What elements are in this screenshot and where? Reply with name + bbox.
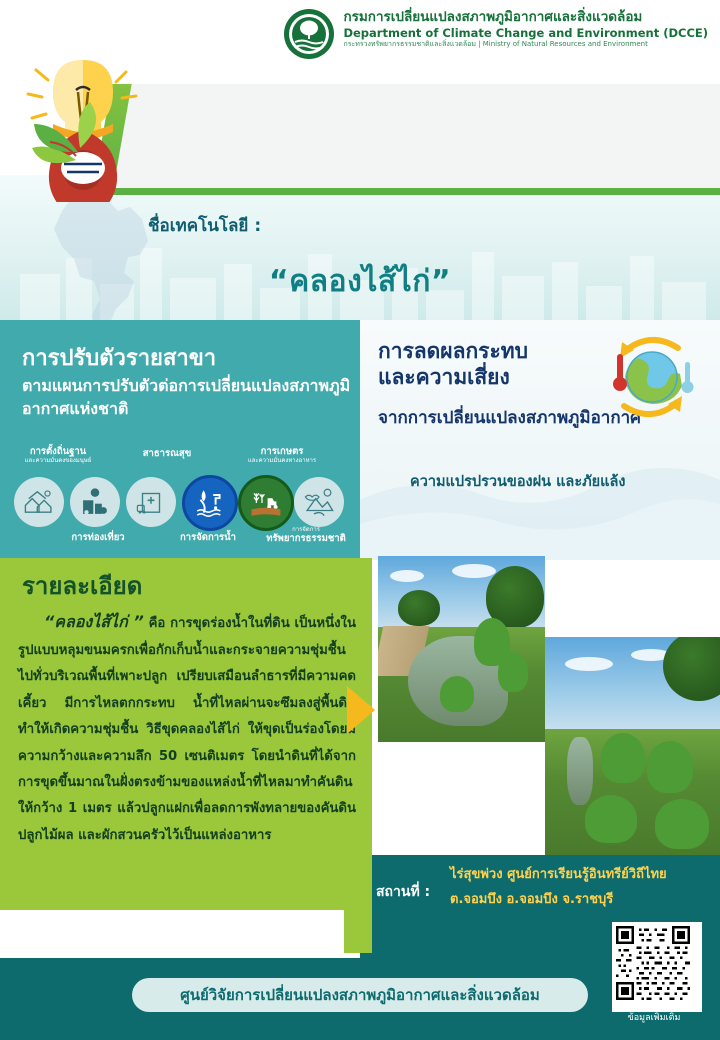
org-ministry: กระทรวงทรัพยากรธรรมชาติและสิ่งแวดล้อม | … [343, 40, 708, 49]
lightbulb-leaf-map-pin-icon [18, 52, 148, 202]
water-management-tap-icon [194, 487, 226, 519]
adaptation-panel-subheading: ตามแผนการปรับตัวต่อการเปลี่ยนแปลงสภาพภูม… [22, 374, 352, 420]
org-name-th: กรมการเปลี่ยนแปลงสภาพภูมิอากาศและสิ่งแวด… [343, 10, 708, 26]
sector-icon-natural-resources[interactable] [294, 477, 344, 527]
wave-decoration [360, 440, 720, 560]
triangle-right-arrow-icon [347, 686, 375, 734]
location-line1: ไร่สุขพ่วง ศูนย์การเรียนรู้อินทรีย์วิถีไ… [450, 863, 710, 888]
sector-label-water: การจัดการน้ำ [158, 533, 258, 543]
qr-caption: ข้อมูลเพิ่มเติม [608, 1010, 700, 1024]
thermometer-hot [613, 354, 627, 391]
technology-label: ชื่อเทคโนโลยี : [148, 212, 261, 239]
location-value: ไร่สุขพ่วง ศูนย์การเรียนรู้อินทรีย์วิถีไ… [450, 863, 710, 912]
sector-icon-settlement[interactable] [14, 477, 64, 527]
details-body: “คลองไส้ไก่ ” คือ การขุดร่องน้ำในที่ดิน … [0, 602, 372, 910]
details-quoted-term: “คลองไส้ไก่ ” [44, 612, 144, 631]
qr-code[interactable] [612, 922, 702, 1012]
thermometer-cold [682, 362, 694, 393]
photo-canal-orchard-rows [545, 637, 720, 855]
impact-note: ความแปรปรวนของฝน และภัยแล้ง [410, 470, 710, 493]
details-heading-bar: รายละเอียด [0, 558, 372, 602]
sector-icon-tourism[interactable] [70, 477, 120, 527]
public-health-hospital-icon [134, 485, 168, 519]
dcce-tree-water-logo-icon [283, 8, 335, 60]
settlement-houses-icon [22, 485, 56, 519]
mitigation-heading-line1: การลดผลกระทบ [378, 338, 608, 364]
footer-pill: ศูนย์วิจัยการเปลี่ยนแปลงสภาพภูมิอากาศและ… [132, 978, 588, 1012]
details-paragraph: “คลองไส้ไก่ ” คือ การขุดร่องน้ำในที่ดิน … [18, 606, 356, 849]
sector-icon-agriculture[interactable] [238, 475, 294, 531]
organization-branding: กรมการเปลี่ยนแปลงสภาพภูมิอากาศและสิ่งแวด… [283, 8, 708, 60]
photo-canal-waterlogged-field [378, 556, 545, 742]
mitigation-panel: การลดผลกระทบ และความเสี่ยง จากการเปลี่ยน… [360, 320, 720, 560]
sector-label-settlement: การตั้งถิ่นฐาน และความมั่นคงของมนุษย์ [2, 447, 114, 465]
mitigation-heading-line2: และความเสี่ยง [378, 364, 608, 390]
sector-label-health: สาธารณสุข [122, 449, 212, 459]
sector-icon-row: การตั้งถิ่นฐาน และความมั่นคงของมนุษย์ สา… [0, 445, 360, 560]
sector-icon-public-health[interactable] [126, 477, 176, 527]
qr-code-icon [616, 926, 690, 1000]
details-heading: รายละเอียด [22, 566, 142, 605]
sector-label-natural-resources: การจัดการ ทรัพยากรธรรมชาติ [254, 527, 358, 544]
tourism-city-icon [78, 485, 112, 519]
footer-text: ศูนย์วิจัยการเปลี่ยนแปลงสภาพภูมิอากาศและ… [180, 983, 540, 1007]
adaptation-panel-heading: การปรับตัวรายสาขา [22, 340, 216, 375]
org-name-en: Department of Climate Change and Environ… [343, 26, 708, 40]
organization-text: กรมการเปลี่ยนแปลงสภาพภูมิอากาศและสิ่งแวด… [343, 8, 708, 49]
agriculture-field-icon [250, 487, 282, 519]
sector-label-tourism: การท่องเที่ยว [48, 533, 148, 543]
details-body-text: คือ การขุดร่องน้ำในที่ดิน เป็นหนึ่งในรูป… [18, 616, 356, 843]
poster-root: กรมการเปลี่ยนแปลงสภาพภูมิอากาศและสิ่งแวด… [0, 0, 720, 1040]
globe-thermometer-cycle-icon [600, 334, 700, 420]
hero-inner-panel [113, 67, 720, 188]
location-line2: ต.จอมบึง อ.จอมบึง จ.ราชบุรี [450, 888, 710, 913]
mitigation-heading: การลดผลกระทบ และความเสี่ยง [378, 338, 608, 391]
sector-label-agriculture: การเกษตร และความมั่นคงทางอาหาร [222, 447, 342, 465]
location-label: สถานที่ : [376, 881, 430, 903]
green-accent-strip [344, 855, 372, 953]
natural-resources-mountain-icon [302, 485, 336, 519]
technology-name: “คลองไส้ไก่” [0, 258, 720, 305]
sector-icon-water-management[interactable] [182, 475, 238, 531]
